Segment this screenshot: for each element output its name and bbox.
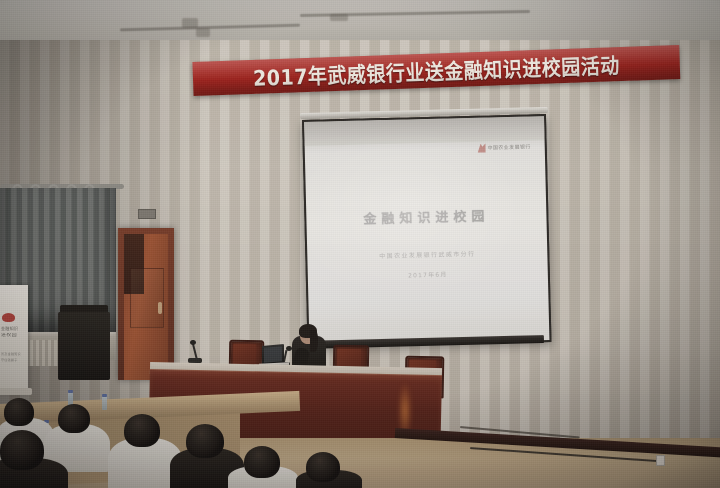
roll-up-banner	[0, 285, 28, 393]
audience-head	[306, 452, 340, 482]
equipment-cabinet	[58, 312, 110, 380]
water-bottle	[102, 396, 107, 410]
door-panel	[130, 268, 164, 328]
bank-logo-icon	[477, 144, 485, 153]
slide-logo-text: 中国农业发展银行	[487, 143, 530, 151]
water-bottle-cap	[68, 390, 73, 393]
laptop-screen	[264, 346, 282, 363]
microphone-head	[190, 340, 196, 345]
audience-head	[124, 414, 160, 447]
projection-screen: 中国农业发展银行 金融知识进校园 中国农业发展银行武威市分行 2017年6月	[302, 114, 551, 348]
ceiling-fixture	[196, 28, 210, 37]
door-knob[interactable]	[158, 302, 162, 314]
roll-up-line2: 进校园	[1, 333, 27, 338]
seated-presenter-hair-side	[310, 330, 318, 352]
roll-up-logo-icon	[2, 313, 15, 322]
wall-outlet	[656, 455, 665, 466]
audience-head	[0, 430, 44, 470]
ceiling-fixture	[182, 18, 198, 28]
audience-head	[244, 446, 280, 478]
roll-up-line4: 守住钱袋子	[1, 358, 27, 363]
roll-up-line1: 金融知识	[1, 326, 27, 331]
roll-up-line3: 普及金融知识	[1, 352, 27, 357]
water-bottle-cap	[102, 394, 107, 397]
slide-title: 金融知识进校园	[306, 204, 546, 229]
ceiling-fixture	[330, 14, 348, 21]
audience-head	[58, 404, 90, 433]
slide-subtitle-line2: 2017年6月	[308, 267, 548, 282]
slide-logo: 中国农业发展银行	[477, 142, 530, 152]
roll-up-base	[0, 388, 32, 395]
slide-subtitle-line1: 中国农业发展银行武威市分行	[307, 247, 547, 262]
wall-sign	[138, 209, 156, 219]
audience-head	[4, 398, 34, 426]
photo-scene: 金融知识 进校园 普及金融知识 守住钱袋子 2017年武威银行业送金融知识进校园…	[0, 0, 720, 488]
screen-top-band	[304, 116, 545, 146]
audience-head	[186, 424, 224, 458]
projection-screen-surface: 中国农业发展银行 金融知识进校园 中国农业发展银行武威市分行 2017年6月	[304, 116, 549, 346]
